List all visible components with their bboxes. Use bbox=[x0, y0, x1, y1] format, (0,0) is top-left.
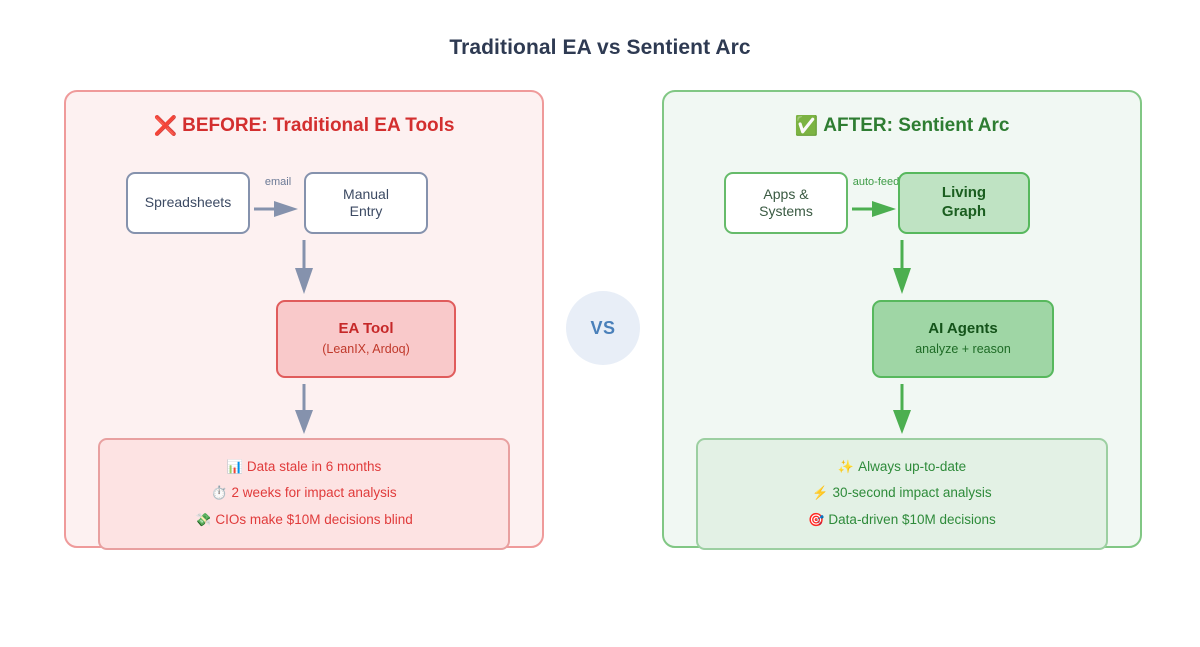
connector-auto-feed-label: auto-feed bbox=[853, 176, 899, 188]
arrow-down-icon-top-before bbox=[291, 240, 317, 296]
panel-after-heading-text: AFTER: Sentient Arc bbox=[823, 115, 1009, 136]
bar-chart-icon: 📊 bbox=[227, 459, 243, 474]
result-item-text: Data-driven $10M decisions bbox=[828, 512, 995, 527]
result-item-text: 2 weeks for impact analysis bbox=[232, 485, 397, 500]
diagram-canvas: Traditional EA vs Sentient Arc ❌BEFORE: … bbox=[0, 0, 1200, 647]
result-item-text: 30-second impact analysis bbox=[833, 485, 992, 500]
cross-mark-icon: ❌ bbox=[153, 116, 177, 137]
result-item: ⚡30-second impact analysis bbox=[698, 480, 1106, 506]
arrow-right-icon bbox=[254, 198, 302, 220]
connector-email: email bbox=[252, 176, 304, 232]
vs-badge: VS bbox=[566, 291, 640, 365]
arrow-down-icon-top-after bbox=[889, 240, 915, 296]
node-ai-agents-title: AI Agents bbox=[928, 320, 997, 339]
result-item: 💸CIOs make $10M decisions blind bbox=[100, 507, 508, 533]
node-manual-entry-line1: Manual bbox=[343, 186, 389, 204]
arrow-right-icon bbox=[852, 198, 900, 220]
node-spreadsheets: Spreadsheets bbox=[126, 172, 250, 234]
node-spreadsheets-label: Spreadsheets bbox=[145, 194, 231, 212]
node-apps-systems: Apps & Systems bbox=[724, 172, 848, 234]
money-with-wings-icon: 💸 bbox=[195, 512, 211, 527]
result-item: 📊Data stale in 6 months bbox=[100, 454, 508, 480]
node-living-graph-line2: Graph bbox=[942, 203, 986, 222]
node-manual-entry: Manual Entry bbox=[304, 172, 428, 234]
node-ea-tool-title: EA Tool bbox=[339, 320, 394, 339]
lightning-bolt-icon: ⚡ bbox=[812, 485, 828, 500]
arrow-down-icon-bottom-before bbox=[291, 384, 317, 436]
node-apps-systems-line2: Systems bbox=[759, 203, 813, 221]
node-apps-systems-line1: Apps & bbox=[763, 186, 808, 204]
result-item: 🎯Data-driven $10M decisions bbox=[698, 507, 1106, 533]
node-ea-tool-subtitle: (LeanIX, Ardoq) bbox=[322, 342, 410, 358]
result-item: ⏱️2 weeks for impact analysis bbox=[100, 480, 508, 506]
sparkles-icon: ✨ bbox=[838, 459, 854, 474]
result-item-text: Data stale in 6 months bbox=[247, 459, 381, 474]
stopwatch-icon: ⏱️ bbox=[211, 485, 227, 500]
results-after: ✨Always up-to-date ⚡30-second impact ana… bbox=[696, 438, 1108, 550]
target-icon: 🎯 bbox=[808, 512, 824, 527]
panel-before-heading: ❌BEFORE: Traditional EA Tools bbox=[66, 114, 542, 138]
node-ai-agents-subtitle: analyze + reason bbox=[915, 342, 1011, 358]
check-mark-button-icon: ✅ bbox=[795, 116, 819, 137]
panel-after-heading: ✅AFTER: Sentient Arc bbox=[664, 114, 1140, 138]
result-item-text: CIOs make $10M decisions blind bbox=[215, 512, 412, 527]
result-item: ✨Always up-to-date bbox=[698, 454, 1106, 480]
panel-before: ❌BEFORE: Traditional EA Tools Spreadshee… bbox=[64, 90, 544, 548]
results-before: 📊Data stale in 6 months ⏱️2 weeks for im… bbox=[98, 438, 510, 550]
node-living-graph-line1: Living bbox=[942, 184, 986, 203]
node-living-graph: Living Graph bbox=[898, 172, 1030, 234]
node-ea-tool: EA Tool (LeanIX, Ardoq) bbox=[276, 300, 456, 378]
panel-before-heading-text: BEFORE: Traditional EA Tools bbox=[182, 115, 454, 136]
result-item-text: Always up-to-date bbox=[858, 459, 966, 474]
node-manual-entry-line2: Entry bbox=[350, 203, 383, 221]
node-ai-agents: AI Agents analyze + reason bbox=[872, 300, 1054, 378]
connector-auto-feed: auto-feed bbox=[850, 176, 902, 232]
arrow-down-icon-bottom-after bbox=[889, 384, 915, 436]
panel-after: ✅AFTER: Sentient Arc Apps & Systems auto… bbox=[662, 90, 1142, 548]
page-title: Traditional EA vs Sentient Arc bbox=[0, 36, 1200, 60]
connector-email-label: email bbox=[265, 176, 291, 188]
